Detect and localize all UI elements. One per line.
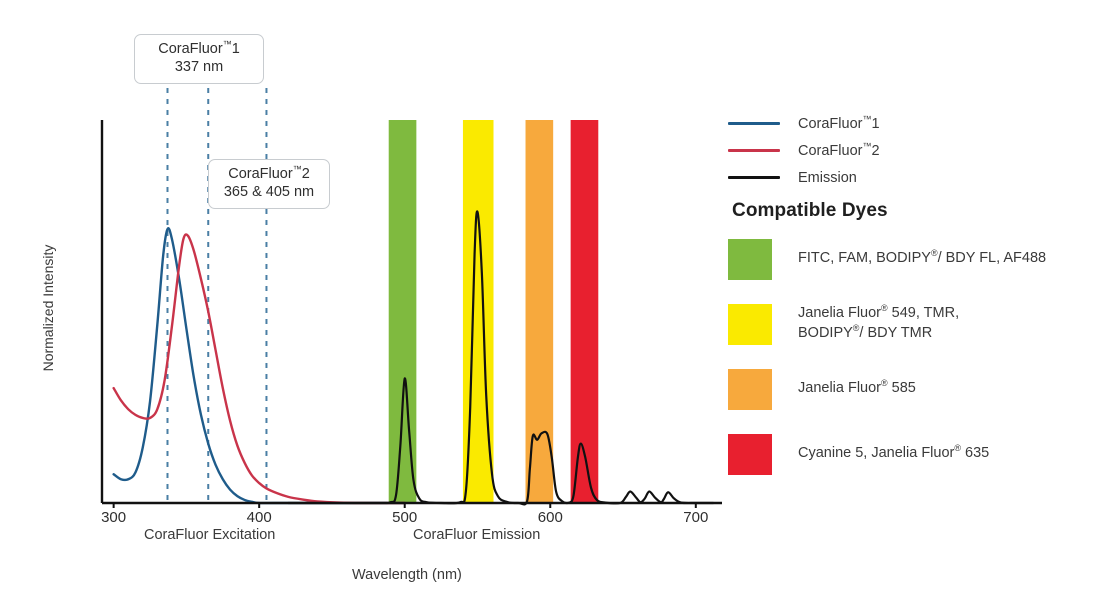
compatible-dyes-list: FITC, FAM, BODIPY®/ BDY FL, AF488Janelia…: [728, 234, 1103, 494]
dye-label-line: FITC, FAM, BODIPY®/ BDY FL, AF488: [798, 249, 1046, 269]
series-legend-label: CoraFluor™1: [798, 116, 880, 132]
curve-series-0: [114, 228, 405, 503]
x-tick-label-700: 700: [671, 509, 721, 526]
dye-color-swatch: [728, 369, 772, 410]
callout-corafluor-2: CoraFluor™2 365 & 405 nm: [208, 159, 330, 209]
x-tick-label-300: 300: [89, 509, 139, 526]
green-band: [389, 120, 417, 503]
callout-corafluor-1: CoraFluor™1 337 nm: [134, 34, 264, 84]
section-label-excitation: CoraFluor Excitation: [144, 527, 275, 543]
registered-icon: ®: [853, 323, 860, 333]
series-line-swatch: [728, 122, 780, 125]
spectra-figure: 300400500600700 CoraFluor™1 337 nm CoraF…: [0, 0, 1110, 612]
legend-panel: CoraFluor™1CoraFluor™2Emission Compatibl…: [728, 0, 1110, 612]
dye-label: Janelia Fluor® 549, TMR,BODIPY®/ BDY TMR: [798, 304, 959, 343]
dye-label-line: Janelia Fluor® 585: [798, 379, 916, 399]
dye-list-item-2: Janelia Fluor® 585: [728, 364, 1103, 414]
series-line-swatch: [728, 176, 780, 179]
dye-label-line: Janelia Fluor® 549, TMR,: [798, 304, 959, 324]
dye-color-swatch: [728, 434, 772, 475]
red-band: [571, 120, 599, 503]
registered-icon: ®: [954, 443, 961, 453]
dye-list-item-1: Janelia Fluor® 549, TMR,BODIPY®/ BDY TMR: [728, 299, 1103, 349]
x-axis-title: Wavelength (nm): [352, 567, 462, 583]
series-legend-item-0: CoraFluor™1: [728, 110, 1098, 137]
series-legend-label: CoraFluor™2: [798, 143, 880, 159]
trademark-icon: ™: [862, 114, 871, 124]
series-legend-item-2: Emission: [728, 164, 1098, 191]
emission-band-group: [389, 120, 599, 503]
curve-series-1: [114, 234, 405, 503]
y-axis-label: Normalized Intensity: [40, 228, 56, 388]
trademark-icon: ™: [293, 164, 302, 174]
dye-list-item-3: Cyanine 5, Janelia Fluor® 635: [728, 429, 1103, 479]
registered-icon: ®: [931, 248, 938, 258]
series-legend: CoraFluor™1CoraFluor™2Emission: [728, 110, 1098, 191]
registered-icon: ®: [881, 378, 888, 388]
trademark-icon: ™: [223, 39, 232, 49]
callout-2-line2: 365 & 405 nm: [219, 184, 319, 202]
dye-label: FITC, FAM, BODIPY®/ BDY FL, AF488: [798, 249, 1046, 269]
registered-icon: ®: [881, 304, 888, 314]
curve-series-2: [288, 211, 713, 504]
callout-1-line2: 337 nm: [145, 59, 253, 77]
dye-color-swatch: [728, 239, 772, 280]
dye-label-line: BODIPY®/ BDY TMR: [798, 324, 959, 344]
dye-label: Janelia Fluor® 585: [798, 379, 916, 399]
series-line-swatch: [728, 149, 780, 152]
callout-1-line1: CoraFluor™1: [145, 41, 253, 59]
trademark-icon: ™: [862, 141, 871, 151]
section-label-emission: CoraFluor Emission: [413, 527, 540, 543]
series-legend-item-1: CoraFluor™2: [728, 137, 1098, 164]
compatible-dyes-title: Compatible Dyes: [732, 200, 888, 222]
x-tick-label-600: 600: [525, 509, 575, 526]
series-legend-label: Emission: [798, 170, 857, 186]
x-tick-label-500: 500: [380, 509, 430, 526]
dye-list-item-0: FITC, FAM, BODIPY®/ BDY FL, AF488: [728, 234, 1103, 284]
x-tick-label-400: 400: [234, 509, 284, 526]
dye-label: Cyanine 5, Janelia Fluor® 635: [798, 444, 989, 464]
callout-2-line1: CoraFluor™2: [219, 166, 319, 184]
plot-area: 300400500600700 CoraFluor™1 337 nm CoraF…: [0, 0, 740, 612]
dye-label-line: Cyanine 5, Janelia Fluor® 635: [798, 444, 989, 464]
dye-color-swatch: [728, 304, 772, 345]
